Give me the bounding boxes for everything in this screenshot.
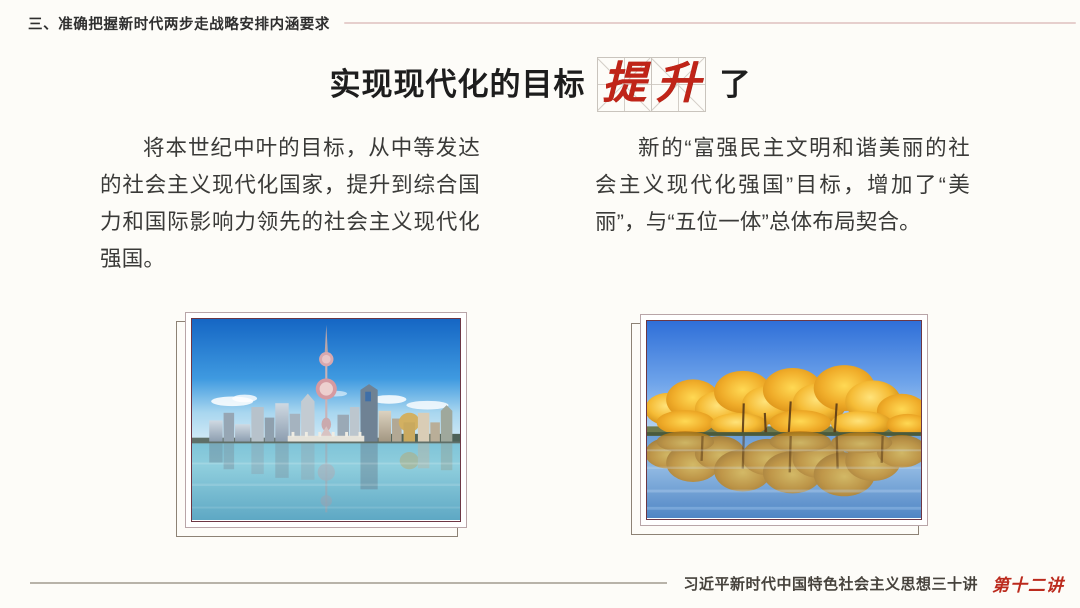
left-column: 将本世纪中叶的目标，从中等发达的社会主义现代化国家，提升到综合国力和国际影响力领… [0, 130, 540, 278]
left-paragraph: 将本世纪中叶的目标，从中等发达的社会主义现代化国家，提升到综合国力和国际影响力领… [100, 130, 480, 278]
right-paragraph: 新的“富强民主文明和谐美丽的社会主义现代化强国”目标，增加了“美丽”，与“五位一… [595, 130, 970, 241]
shanghai-skyline-photo [191, 318, 461, 522]
calligraphy-grid-word: 提 升 [598, 57, 706, 112]
footer-divider-rule [30, 582, 667, 584]
page-title-lead: 实现现代化的目标 [330, 69, 586, 100]
calligraphy-char: 升 [652, 58, 705, 111]
content-columns: 将本世纪中叶的目标，从中等发达的社会主义现代化国家，提升到综合国力和国际影响力领… [0, 130, 1080, 278]
autumn-poplar-forest-photo [646, 320, 922, 520]
page-title: 实现现代化的目标 提 升 了 [0, 55, 1080, 113]
autumn-poplar-illustration [647, 321, 921, 518]
slide-root: 三、准确把握新时代两步走战略安排内涵要求 实现现代化的目标 提 升 了 [0, 0, 1080, 608]
calligraphy-grid-cell: 升 [651, 57, 706, 112]
shanghai-skyline-illustration [192, 319, 460, 520]
header-divider-rule [344, 22, 1076, 24]
photo-white-mat [640, 314, 928, 526]
slide-header: 三、准确把握新时代两步走战略安排内涵要求 [0, 8, 1080, 38]
section-title: 三、准确把握新时代两步走战略安排内涵要求 [28, 13, 330, 34]
autumn-poplar-photo-frame [631, 323, 919, 535]
slide-footer: 习近平新时代中国特色社会主义思想三十讲 第十二讲 [0, 566, 1080, 600]
footer-lecture-badge: 第十二讲 [992, 571, 1064, 596]
photo-white-mat [185, 312, 467, 528]
shanghai-skyline-photo-frame [176, 321, 458, 537]
calligraphy-char: 提 [598, 58, 651, 111]
right-column: 新的“富强民主文明和谐美丽的社会主义现代化强国”目标，增加了“美丽”，与“五位一… [540, 130, 1080, 278]
footer-series-title: 习近平新时代中国特色社会主义思想三十讲 [683, 573, 978, 594]
calligraphy-grid-cell: 提 [597, 57, 652, 112]
page-title-tail: 了 [720, 69, 751, 100]
